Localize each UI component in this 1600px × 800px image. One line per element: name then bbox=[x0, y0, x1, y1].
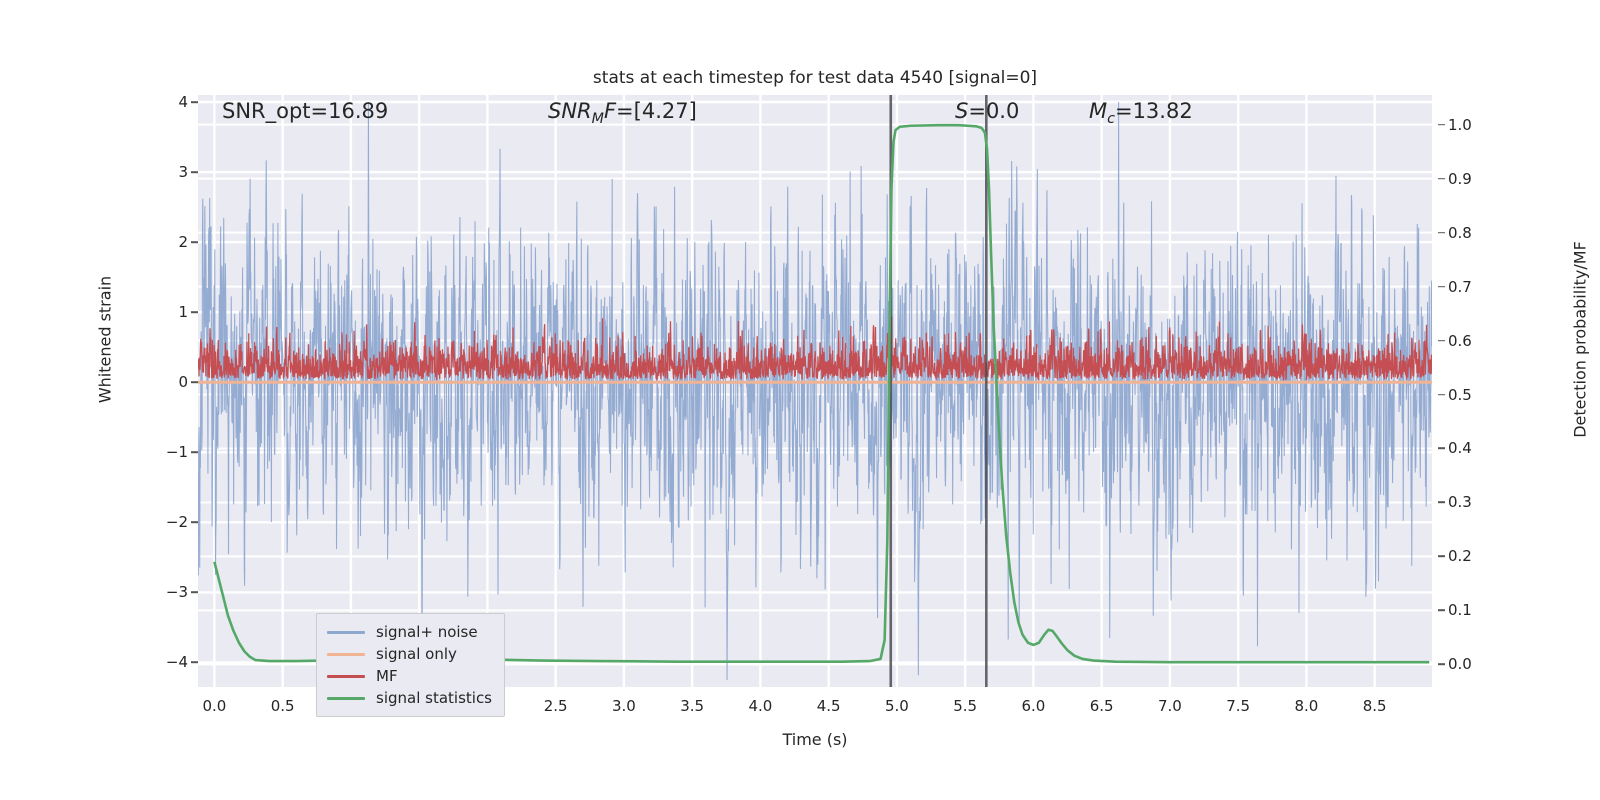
x-tick: 8.0 bbox=[1271, 697, 1341, 715]
x-tick: 3.5 bbox=[657, 697, 727, 715]
y-tickmark-right bbox=[1438, 502, 1445, 504]
x-tick: 5.0 bbox=[862, 697, 932, 715]
y-tick-left: −1 bbox=[128, 443, 188, 461]
y-tickmark-right bbox=[1438, 394, 1445, 396]
y-tickmark-right bbox=[1438, 448, 1445, 450]
x-tick: 7.5 bbox=[1203, 697, 1273, 715]
page-title: stats at each timestep for test data 454… bbox=[198, 68, 1432, 88]
y-tickmark-right bbox=[1438, 124, 1445, 126]
y-tickmark-left bbox=[191, 522, 198, 524]
y-tick-left: −3 bbox=[128, 583, 188, 601]
y-tick-right: 0.4 bbox=[1448, 439, 1508, 457]
annotation-snr-opt: SNR_opt=16.89 bbox=[222, 99, 388, 123]
legend-swatch-icon bbox=[327, 675, 365, 678]
y-tickmark-left bbox=[191, 241, 198, 243]
plot-svg bbox=[198, 95, 1432, 687]
x-tick: 5.5 bbox=[930, 697, 1000, 715]
y-tick-right: 0.0 bbox=[1448, 655, 1508, 673]
y-axis-right-label: Detection probability/MF bbox=[1571, 200, 1590, 480]
y-tickmark-right bbox=[1438, 610, 1445, 612]
y-tick-right: 0.3 bbox=[1448, 493, 1508, 511]
x-tick: 0.5 bbox=[248, 697, 318, 715]
x-tick: 3.0 bbox=[589, 697, 659, 715]
legend-item[interactable]: signal statistics bbox=[327, 687, 492, 709]
annotation-snr-mf: SNRMF=[4.27] bbox=[548, 99, 697, 127]
x-tick: 6.5 bbox=[1067, 697, 1137, 715]
legend-swatch-icon bbox=[327, 653, 365, 656]
y-tick-right: 0.1 bbox=[1448, 601, 1508, 619]
y-tick-right: 0.6 bbox=[1448, 332, 1508, 350]
x-tick: 7.0 bbox=[1135, 697, 1205, 715]
y-tickmark-left bbox=[191, 452, 198, 454]
x-axis-label: Time (s) bbox=[198, 730, 1432, 749]
legend-item[interactable]: signal only bbox=[327, 643, 492, 665]
y-tickmark-right bbox=[1438, 556, 1445, 558]
x-tick: 4.0 bbox=[725, 697, 795, 715]
legend-label: signal statistics bbox=[376, 689, 492, 707]
legend-label: signal+ noise bbox=[376, 623, 478, 641]
y-tickmark-right bbox=[1438, 286, 1445, 288]
y-tick-left: −4 bbox=[128, 653, 188, 671]
x-tick: 4.5 bbox=[794, 697, 864, 715]
figure-canvas: stats at each timestep for test data 454… bbox=[0, 0, 1600, 800]
legend-swatch-icon bbox=[327, 697, 365, 700]
y-tickmark-right bbox=[1438, 232, 1445, 234]
y-tick-right: 0.9 bbox=[1448, 170, 1508, 188]
y-tickmark-left bbox=[191, 662, 198, 664]
legend-label: signal only bbox=[376, 645, 457, 663]
y-tickmark-left bbox=[191, 381, 198, 383]
x-tick: 6.0 bbox=[998, 697, 1068, 715]
y-tickmark-left bbox=[191, 311, 198, 313]
y-tickmark-right bbox=[1438, 664, 1445, 666]
x-tick: 8.5 bbox=[1340, 697, 1410, 715]
y-tick-left: 3 bbox=[128, 163, 188, 181]
y-tick-left: 1 bbox=[128, 303, 188, 321]
y-tickmark-right bbox=[1438, 178, 1445, 180]
y-tick-right: 1.0 bbox=[1448, 116, 1508, 134]
y-tick-right: 0.2 bbox=[1448, 547, 1508, 565]
y-tick-right: 0.8 bbox=[1448, 224, 1508, 242]
x-tick: 0.0 bbox=[179, 697, 249, 715]
legend-item[interactable]: MF bbox=[327, 665, 492, 687]
legend-item[interactable]: signal+ noise bbox=[327, 621, 492, 643]
y-tickmark-left bbox=[191, 592, 198, 594]
y-tickmark-left bbox=[191, 171, 198, 173]
annotation-mc-value: Mc=13.82 bbox=[1089, 99, 1193, 127]
y-tickmark-right bbox=[1438, 340, 1445, 342]
legend-swatch-icon bbox=[327, 631, 365, 634]
x-tick: 2.5 bbox=[521, 697, 591, 715]
annotation-s-value: S=0.0 bbox=[955, 99, 1019, 123]
y-tick-right: 0.5 bbox=[1448, 386, 1508, 404]
y-tick-left: 4 bbox=[128, 93, 188, 111]
plot-area bbox=[198, 95, 1432, 687]
y-tickmark-left bbox=[191, 101, 198, 103]
legend: signal+ noisesignal onlyMFsignal statist… bbox=[316, 613, 505, 717]
y-tick-left: 0 bbox=[128, 373, 188, 391]
legend-label: MF bbox=[376, 667, 398, 685]
y-axis-left-label: Whitened strain bbox=[96, 230, 115, 450]
y-tick-left: −2 bbox=[128, 513, 188, 531]
y-tick-left: 2 bbox=[128, 233, 188, 251]
y-tick-right: 0.7 bbox=[1448, 278, 1508, 296]
